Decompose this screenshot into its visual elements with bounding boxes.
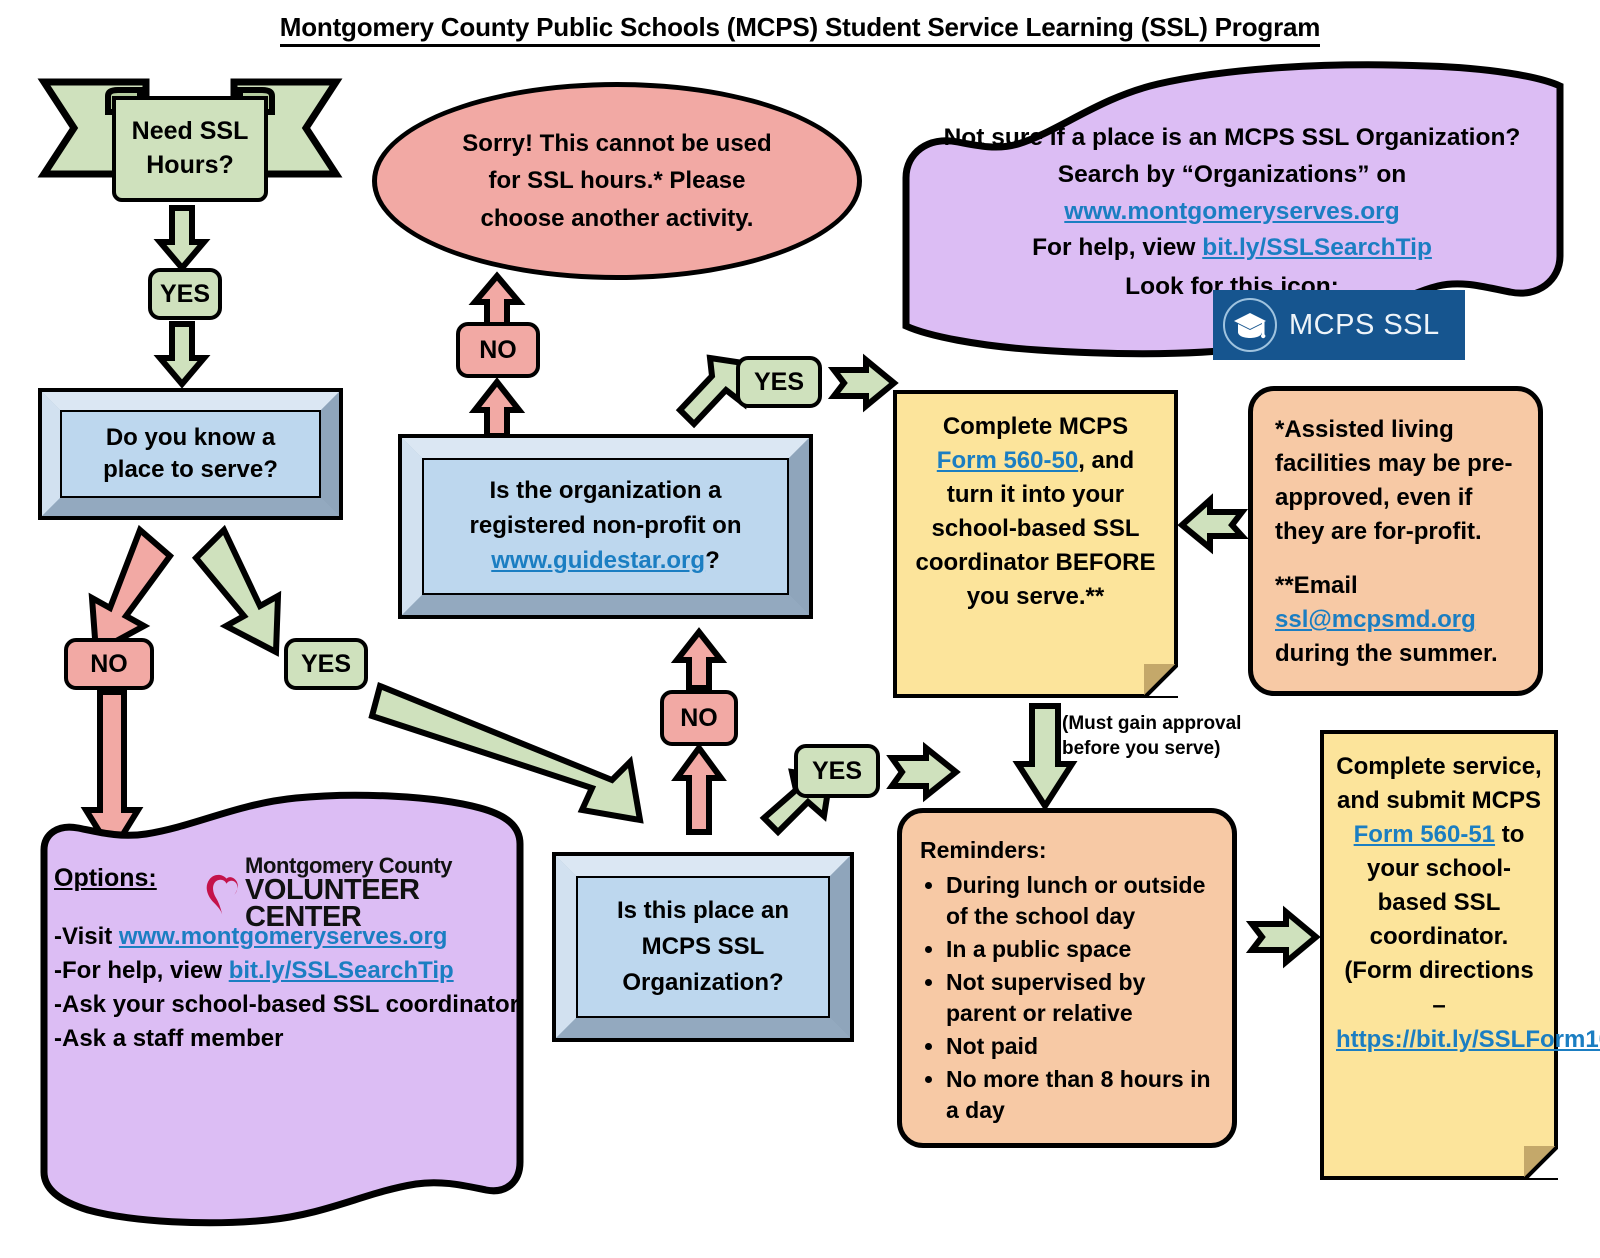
- must-gain-approval-caption: (Must gain approval before you serve): [1062, 712, 1282, 761]
- sorry-ellipse-text: Sorry! This cannot be used for SSL hours…: [406, 125, 828, 237]
- decision-guidestar[interactable]: Is the organization a registered non-pro…: [398, 434, 813, 619]
- no-pill-guidestar[interactable]: NO: [456, 322, 540, 378]
- arrow-yes-to-reminders: [886, 744, 962, 800]
- decision-know-place-text: Do you know a place to serve?: [103, 422, 278, 487]
- sslsearchtip-link-top[interactable]: bit.ly/SSLSearchTip: [1202, 234, 1432, 261]
- arrow-yes-to-know-place: [152, 320, 212, 388]
- no-pill-mcps-org-label: NO: [680, 704, 718, 733]
- montgomeryserves-link-top[interactable]: www.montgomeryserves.org: [1064, 198, 1399, 225]
- guidestar-link[interactable]: www.guidestar.org: [491, 547, 705, 574]
- yes-pill-guidestar-label: YES: [754, 368, 804, 397]
- note-form-560-51: Complete service, and submit MCPS Form 5…: [1320, 730, 1558, 1180]
- mcps-ssl-logo-text: MCPS SSL: [1289, 309, 1440, 342]
- list-item: Not paid: [946, 1031, 1218, 1062]
- for-help-prefix-top: For help, view: [1032, 234, 1202, 261]
- graduation-cap-icon: [1223, 298, 1277, 352]
- heart-icon: [200, 866, 241, 922]
- options-list: -Visit www.montgomeryserves.org -For hel…: [54, 920, 522, 1056]
- sslform101-link[interactable]: https://bit.ly/SSLForm101: [1336, 1026, 1600, 1053]
- email-prefix: **Email: [1275, 572, 1358, 599]
- volunteer-center-logo: Montgomery County VOLUNTEER CENTER: [200, 862, 500, 926]
- arrow-banner-to-yes: [152, 204, 212, 272]
- start-banner-panel: Need SSL Hours?: [112, 96, 268, 202]
- arrow-mcps-org-no-up: [668, 628, 730, 692]
- start-banner: Need SSL Hours?: [40, 78, 340, 202]
- volunteer-center-wordmark: Montgomery County VOLUNTEER CENTER: [245, 856, 500, 932]
- decision-mcps-org[interactable]: Is this place an MCPS SSL Organization?: [552, 852, 854, 1042]
- arrow-mcps-org-to-no: [668, 744, 730, 836]
- note-form-560-50-text: Complete MCPS Form 560-50, and turn it i…: [897, 394, 1174, 614]
- no-pill-know-place-label: NO: [90, 650, 128, 679]
- page-title-text: Montgomery County Public Schools (MCPS) …: [280, 12, 1320, 47]
- form-560-50-link[interactable]: Form 560-50: [937, 447, 1078, 474]
- reminders-heading: Reminders:: [920, 835, 1218, 866]
- ask-coordinator-text: -Ask your school-based SSL coordinator: [54, 988, 522, 1022]
- ssl-email-link[interactable]: ssl@mcpsmd.org: [1275, 606, 1476, 633]
- ask-staff-text: -Ask a staff member: [54, 1022, 522, 1056]
- sorry-ellipse: Sorry! This cannot be used for SSL hours…: [372, 82, 862, 280]
- reminders-content: Reminders: During lunch or outside of th…: [902, 813, 1232, 1126]
- yes-pill-guidestar[interactable]: YES: [736, 356, 822, 408]
- flowchart-canvas: Montgomery County Public Schools (MCPS) …: [0, 0, 1600, 1258]
- list-item: During lunch or outside of the school da…: [946, 870, 1218, 932]
- note-560-51-middle: to your school-based SSL coordinator. (F…: [1344, 821, 1533, 1018]
- note-fold-corner: [1144, 664, 1178, 698]
- reminders-list: During lunch or outside of the school da…: [920, 870, 1218, 1126]
- note-form-560-50: Complete MCPS Form 560-50, and turn it i…: [893, 390, 1178, 698]
- note-fold-corner: [1524, 1146, 1558, 1180]
- vc-logo-line2: VOLUNTEER CENTER: [245, 877, 500, 932]
- decision-know-place[interactable]: Do you know a place to serve?: [38, 388, 343, 520]
- yes-pill-know-place[interactable]: YES: [284, 638, 368, 690]
- assisted-living-note: *Assisted living facilities may be pre-a…: [1248, 386, 1543, 696]
- note-560-50-prefix: Complete MCPS: [943, 413, 1128, 440]
- page-title: Montgomery County Public Schools (MCPS) …: [0, 12, 1600, 43]
- arrow-guidestar-to-no: [466, 378, 528, 440]
- yes-pill-start[interactable]: YES: [148, 268, 222, 320]
- yes-pill-mcps-org[interactable]: YES: [794, 744, 880, 798]
- sslsearchtip-link-options[interactable]: bit.ly/SSLSearchTip: [229, 957, 454, 984]
- yes-pill-mcps-org-label: YES: [812, 757, 862, 786]
- reminders-box: Reminders: During lunch or outside of th…: [897, 808, 1237, 1148]
- yes-pill-start-label: YES: [160, 280, 210, 309]
- note-560-51-prefix: Complete service, and submit MCPS: [1336, 753, 1541, 814]
- yes-pill-know-place-label: YES: [301, 650, 351, 679]
- list-item: In a public space: [946, 934, 1218, 965]
- decision-guidestar-text: Is the organization a registered non-pro…: [470, 474, 742, 578]
- no-pill-know-place[interactable]: NO: [64, 638, 154, 690]
- form-560-51-link[interactable]: Form 560-51: [1354, 821, 1495, 848]
- for-help-prefix-options: -For help, view: [54, 957, 229, 984]
- start-banner-label: Need SSL Hours?: [116, 115, 264, 183]
- mcps-ssl-org-info-text: Not sure if a place is an MCPS SSL Organ…: [924, 120, 1540, 306]
- guidestar-question-mark: ?: [705, 547, 720, 574]
- note-form-560-51-text: Complete service, and submit MCPS Form 5…: [1324, 734, 1554, 1057]
- decision-mcps-org-text: Is this place an MCPS SSL Organization?: [617, 893, 789, 1001]
- arrow-assisted-living-to-note: [1176, 496, 1248, 554]
- arrow-yes-to-note-560-50: [828, 356, 900, 410]
- list-item: No more than 8 hours in a day: [946, 1064, 1218, 1126]
- arrow-reminders-to-final: [1246, 908, 1322, 966]
- no-pill-mcps-org[interactable]: NO: [660, 690, 738, 746]
- mcps-ssl-logo: MCPS SSL: [1213, 290, 1465, 360]
- list-item: Not supervised by parent or relative: [946, 967, 1218, 1029]
- visit-prefix: -Visit: [54, 923, 119, 950]
- no-pill-guidestar-label: NO: [479, 336, 517, 365]
- email-suffix: during the summer.: [1275, 640, 1498, 667]
- assisted-living-text: *Assisted living facilities may be pre-a…: [1253, 391, 1538, 672]
